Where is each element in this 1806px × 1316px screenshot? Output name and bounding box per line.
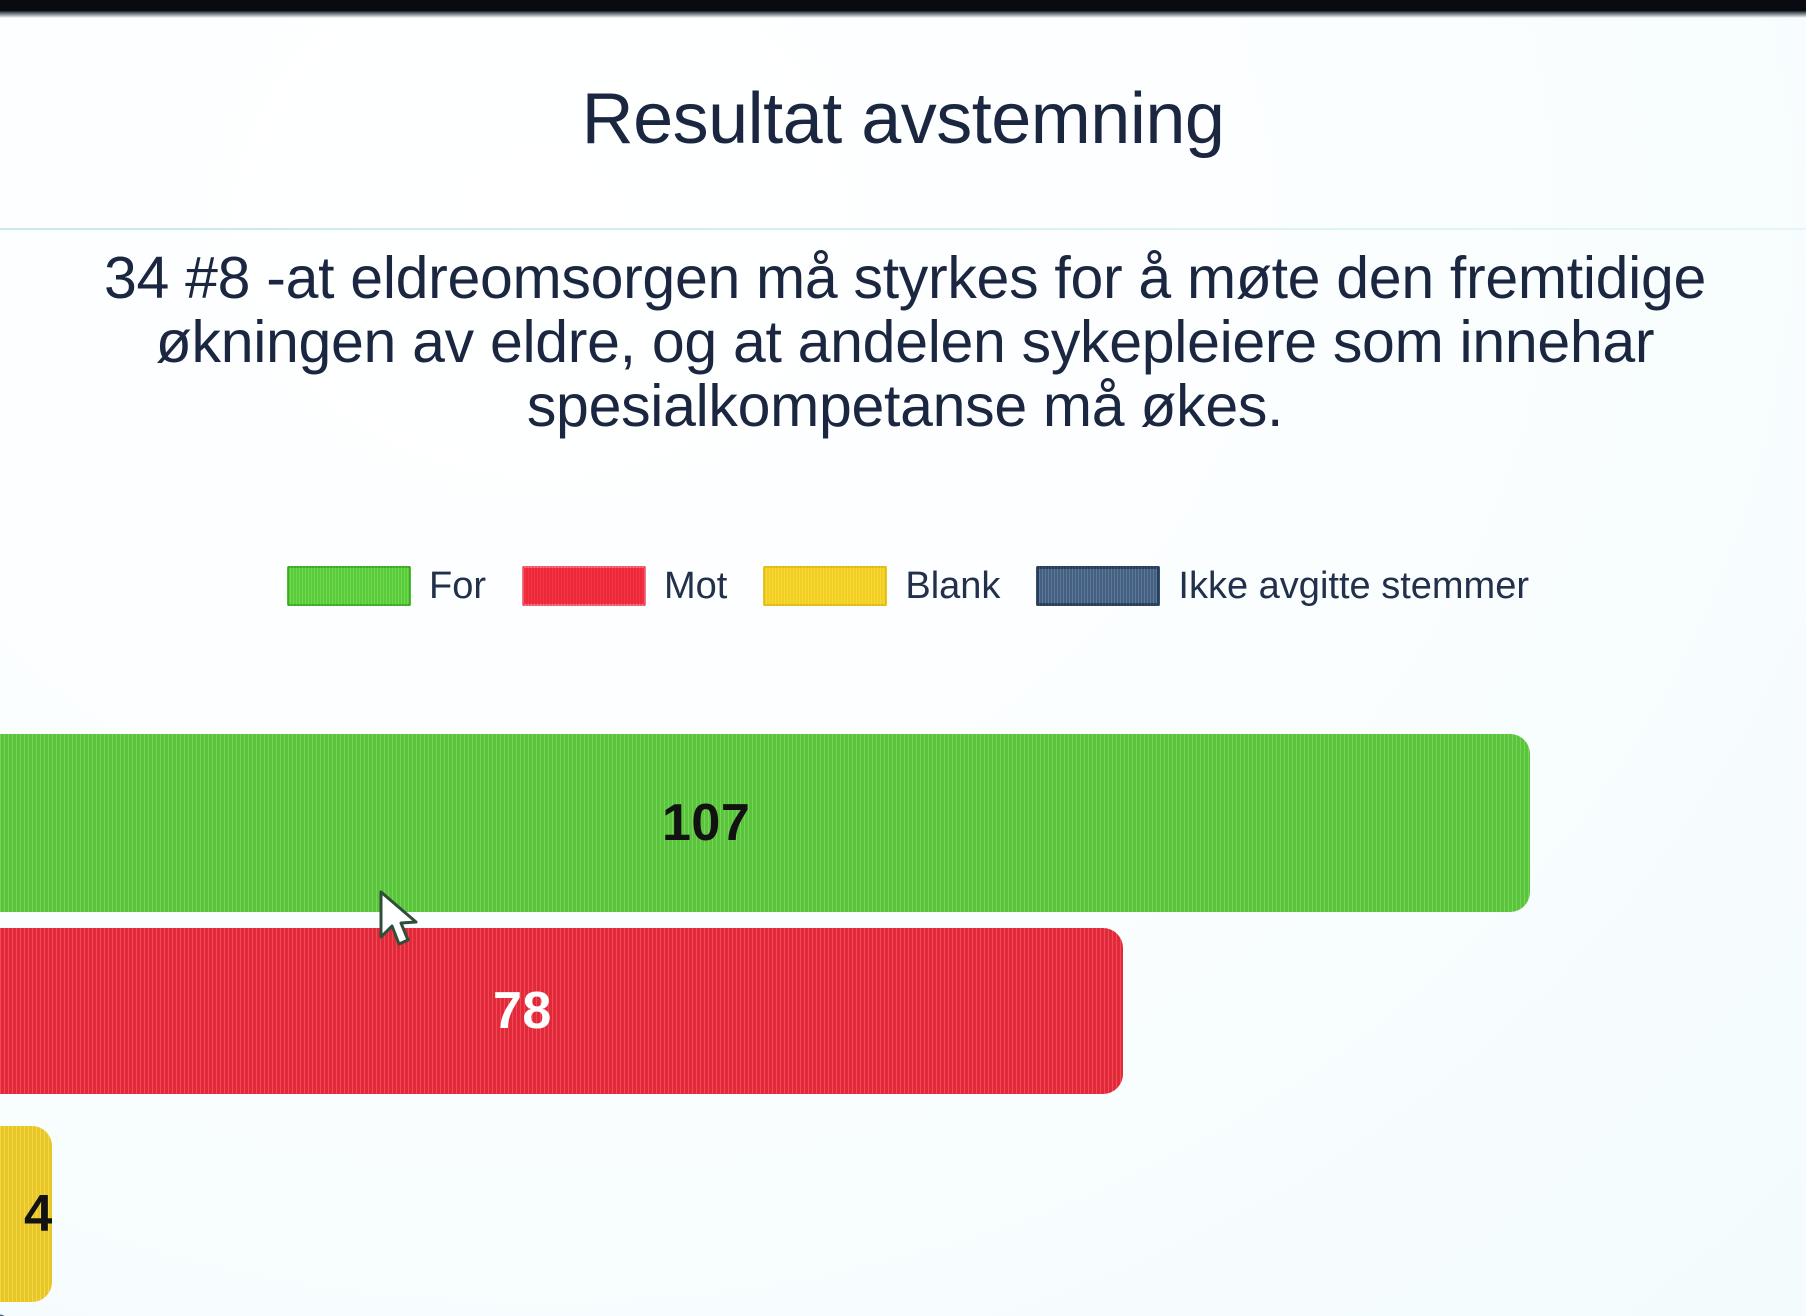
bar-mot[interactable]: 78 [0,928,1123,1094]
legend-swatch-blank [763,566,887,606]
screen-bezel [0,0,1806,11]
header-divider [0,228,1806,230]
chart-legend: For Mot Blank Ikke avgitte stemmer [287,566,1529,606]
legend-item-mot[interactable]: Mot [522,566,727,606]
bar-value-mot: 78 [493,981,552,1041]
legend-label-blank: Blank [905,566,1000,606]
bar-value-for: 107 [662,793,750,853]
question-text: 34 #8 -at eldreomsorgen må styrkes for å… [30,246,1780,438]
slide-screenshot: Resultat avstemning 34 #8 -at eldreomsor… [0,0,1806,1316]
legend-label-mot: Mot [664,566,727,606]
legend-swatch-mot [522,566,646,606]
bar-blank[interactable]: 4 [0,1126,52,1302]
legend-item-for[interactable]: For [287,566,486,606]
legend-label-for: For [429,566,486,606]
screen-bezel-shadow [0,11,1806,18]
slide-surface: Resultat avstemning 34 #8 -at eldreomsor… [0,18,1806,1316]
page-title: Resultat avstemning [0,76,1806,162]
legend-item-ikke-avgitte-stemmer[interactable]: Ikke avgitte stemmer [1036,566,1529,606]
legend-item-blank[interactable]: Blank [763,566,1000,606]
legend-swatch-ikke-avgitte-stemmer [1036,566,1160,606]
legend-swatch-for [287,566,411,606]
legend-label-ikke-avgitte-stemmer: Ikke avgitte stemmer [1178,566,1529,606]
bar-value-blank: 4 [24,1184,52,1244]
bar-for[interactable]: 107 [0,734,1530,912]
mouse-pointer-icon [378,890,420,952]
